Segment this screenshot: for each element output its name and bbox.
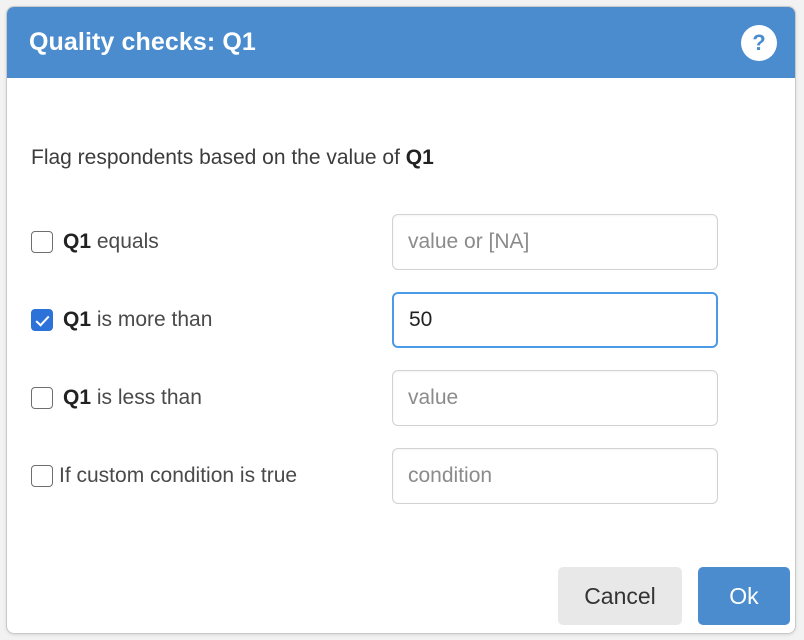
checkbox-more-than[interactable] bbox=[31, 309, 53, 331]
intro-text: Flag respondents based on the value of Q… bbox=[31, 146, 434, 170]
checkbox-equals[interactable] bbox=[31, 231, 53, 253]
intro-variable: Q1 bbox=[406, 146, 434, 169]
value-input-less-than[interactable] bbox=[392, 370, 718, 426]
checkbox-box-icon bbox=[31, 387, 53, 409]
condition-row-more-than: Q1 is more than bbox=[7, 281, 795, 359]
checkbox-box-icon bbox=[31, 231, 53, 253]
condition-label-equals: Q1 equals bbox=[63, 230, 159, 254]
condition-row-less-than: Q1 is less than bbox=[7, 359, 795, 437]
ok-button[interactable]: Ok bbox=[698, 567, 790, 625]
checkbox-custom-condition[interactable] bbox=[31, 465, 53, 487]
condition-label-custom: If custom condition is true bbox=[59, 464, 297, 488]
condition-label-rest: is more than bbox=[91, 308, 212, 331]
dialog-titlebar: Quality checks: Q1 ? bbox=[7, 7, 795, 78]
checkbox-less-than[interactable] bbox=[31, 387, 53, 409]
intro-prefix: Flag respondents based on the value of bbox=[31, 146, 406, 169]
condition-row-custom: If custom condition is true bbox=[7, 437, 795, 515]
condition-label-variable: Q1 bbox=[63, 308, 91, 331]
dialog-body: Flag respondents based on the value of Q… bbox=[7, 78, 795, 633]
value-input-more-than[interactable] bbox=[392, 292, 718, 348]
dialog-footer: Cancel Ok bbox=[558, 567, 790, 625]
value-input-custom-condition[interactable] bbox=[392, 448, 718, 504]
condition-label-rest: equals bbox=[91, 230, 159, 253]
help-icon[interactable]: ? bbox=[741, 25, 777, 61]
condition-label-variable: Q1 bbox=[63, 386, 91, 409]
quality-checks-dialog: Quality checks: Q1 ? Flag respondents ba… bbox=[6, 6, 796, 634]
condition-row-equals: Q1 equals bbox=[7, 203, 795, 281]
condition-label-rest: is less than bbox=[91, 386, 202, 409]
checkbox-box-icon bbox=[31, 465, 53, 487]
condition-label-less-than: Q1 is less than bbox=[63, 386, 202, 410]
cancel-button[interactable]: Cancel bbox=[558, 567, 682, 625]
checkbox-checked-icon bbox=[31, 309, 53, 331]
condition-label-more-than: Q1 is more than bbox=[63, 308, 212, 332]
condition-label-variable: Q1 bbox=[63, 230, 91, 253]
condition-rows: Q1 equals Q1 is more than Q1 is less tha… bbox=[7, 203, 795, 515]
dialog-title: Quality checks: Q1 bbox=[29, 28, 256, 57]
value-input-equals[interactable] bbox=[392, 214, 718, 270]
